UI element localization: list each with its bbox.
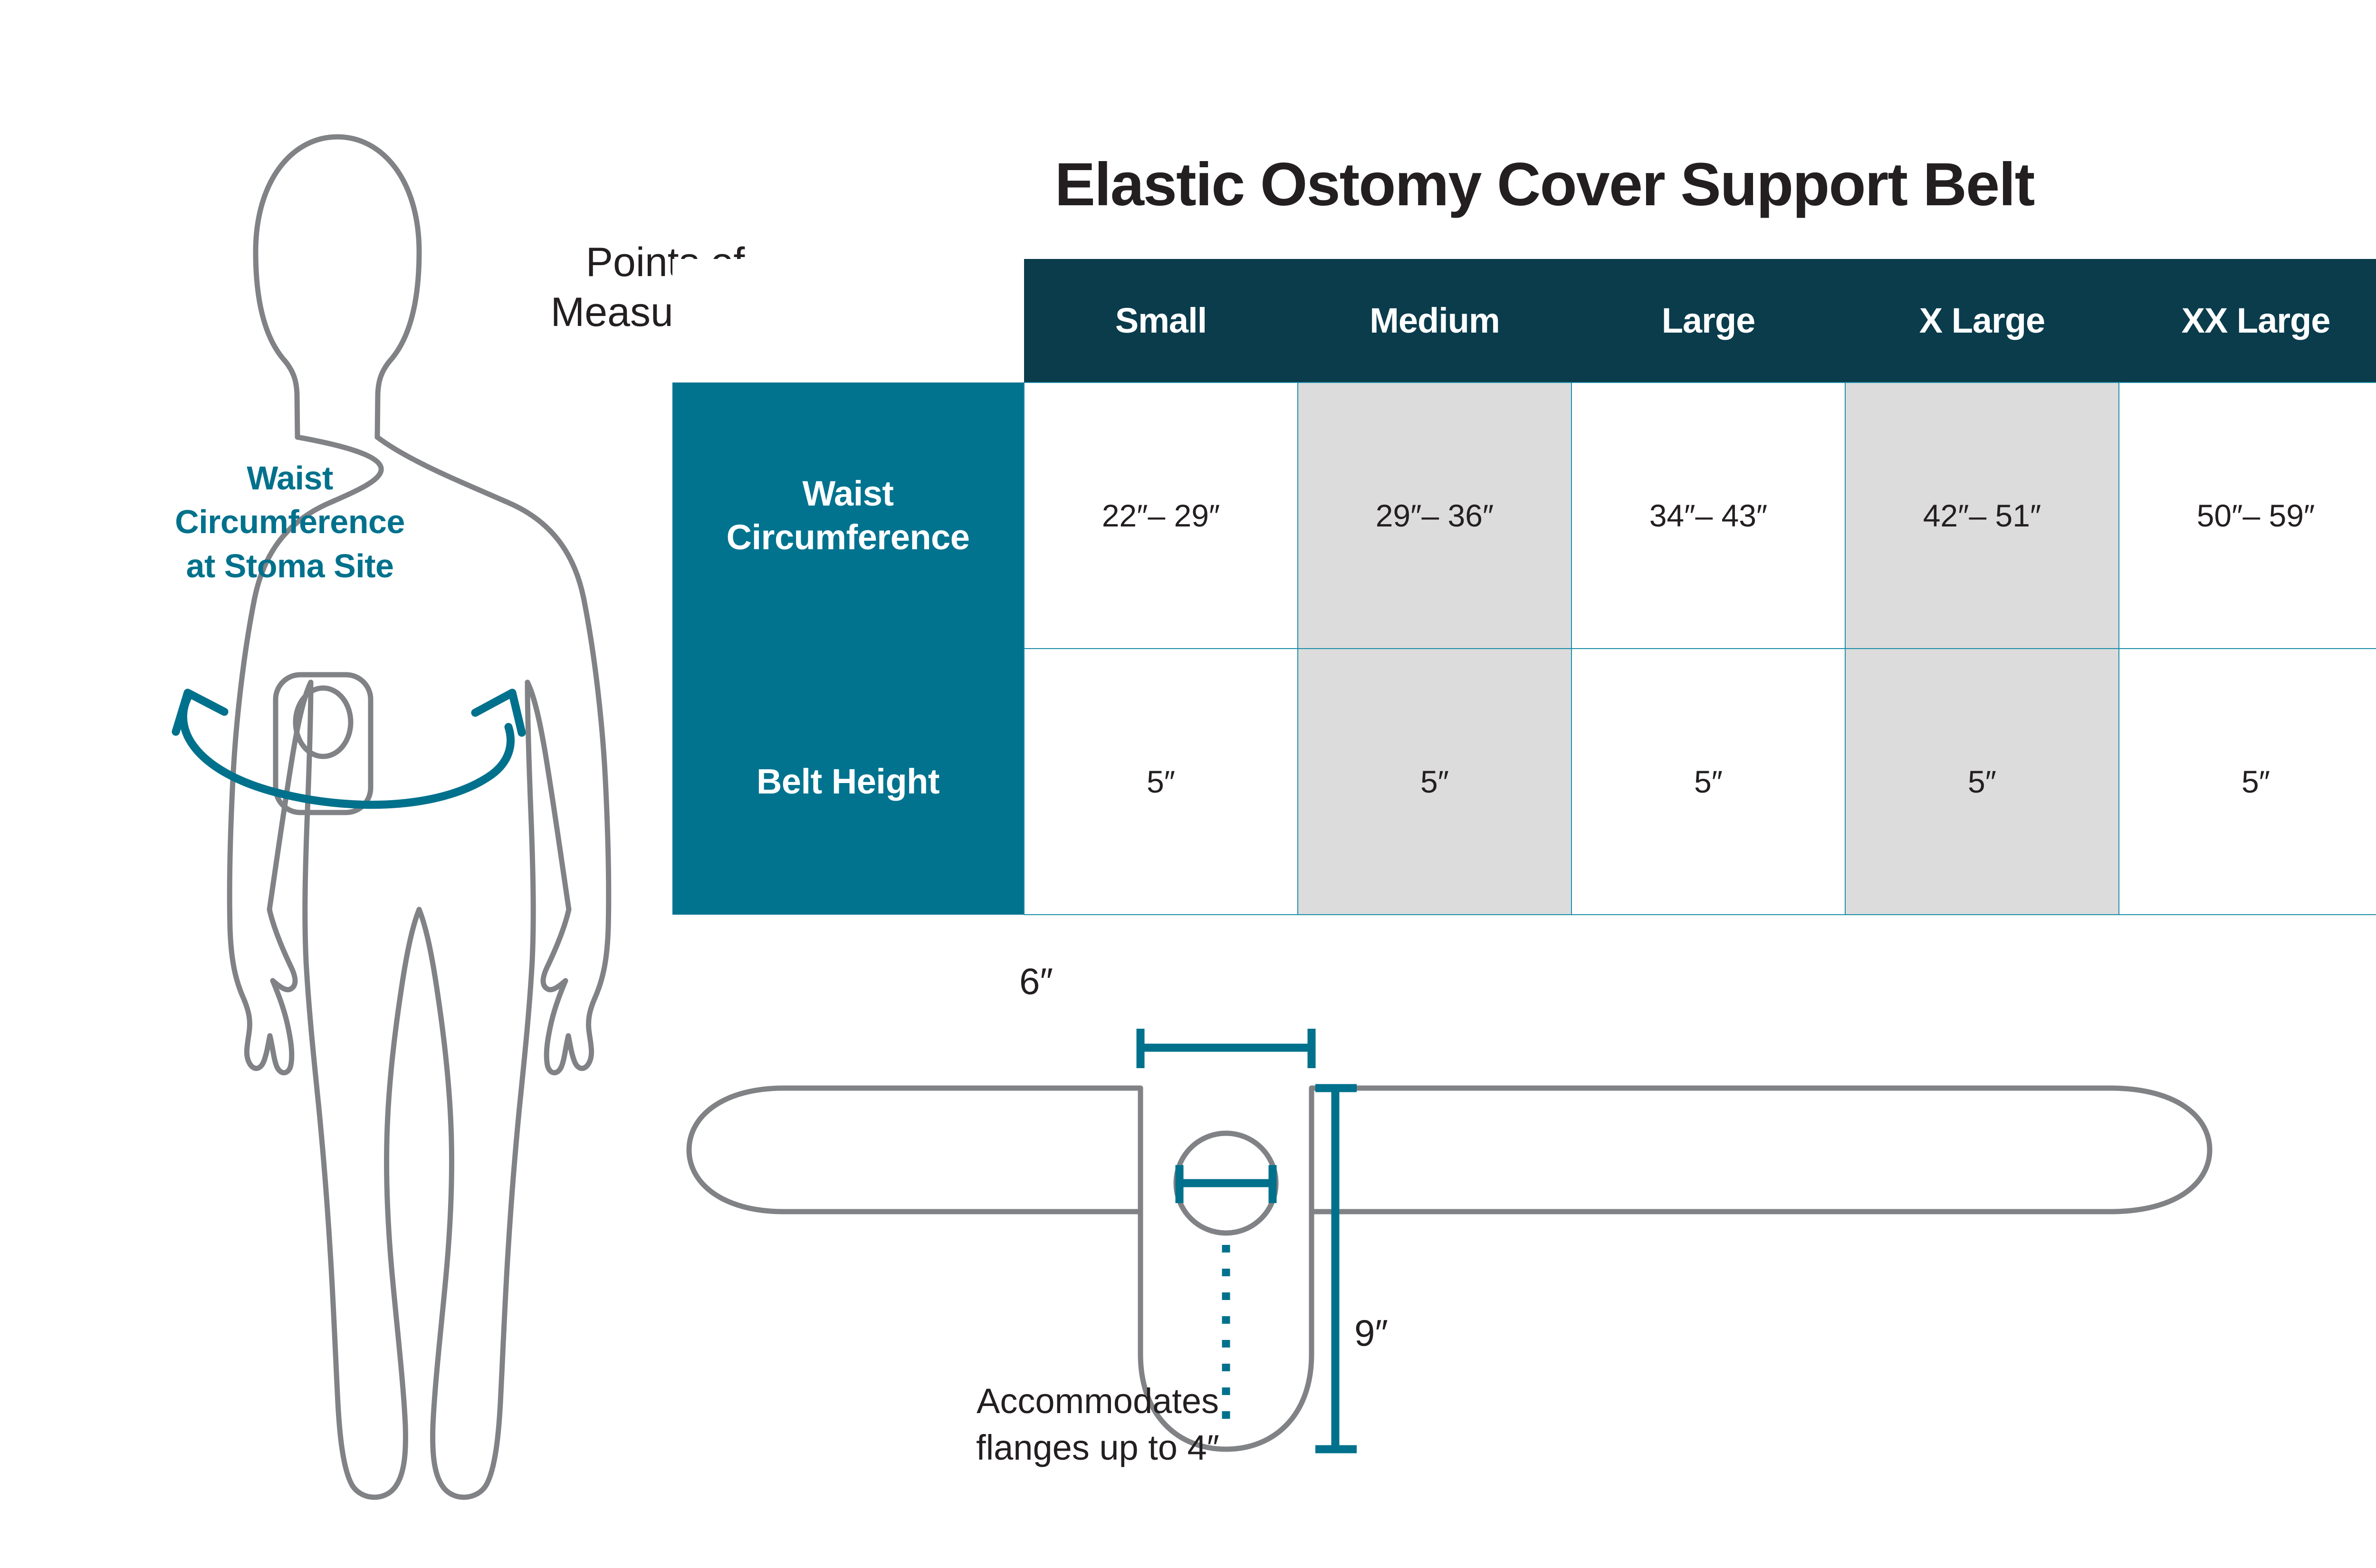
table-row: Waist Circumference 22″– 29″ 29″– 36″ 34… — [672, 382, 2376, 649]
cell-waist-xxlarge: 50″– 59″ — [2119, 382, 2376, 649]
table-header-row: Small Medium Large X Large XX Large — [672, 259, 2376, 382]
belt-height-dimension-label: 9″ — [1354, 1311, 1388, 1355]
row-label-belt-height: Belt Height — [672, 649, 1024, 915]
cell-height-small: 5″ — [1024, 649, 1298, 915]
column-header-xxlarge: XX Large — [2119, 259, 2376, 382]
cell-waist-xlarge: 42″– 51″ — [1845, 382, 2119, 649]
size-chart-table: Small Medium Large X Large XX Large Wais… — [672, 259, 2376, 915]
row-label-waist-line2: Circumference — [727, 517, 970, 557]
table-row: Belt Height 5″ 5″ 5″ 5″ 5″ — [672, 649, 2376, 915]
row-label-waist-circumference: Waist Circumference — [672, 382, 1024, 649]
waist-measure-label-line3: at Stoma Site — [186, 547, 394, 584]
waist-measure-label: Waist Circumference at Stoma Site — [157, 456, 423, 588]
flange-diameter-dimension-icon — [1179, 1165, 1273, 1203]
cell-waist-small: 22″– 29″ — [1024, 382, 1298, 649]
belt-flange-caption: Accommodates flanges up to 4″ — [860, 1378, 1335, 1472]
belt-caption-line2: flanges up to 4″ — [976, 1428, 1219, 1467]
column-header-large: Large — [1571, 259, 1845, 382]
column-header-medium: Medium — [1298, 259, 1571, 382]
cell-waist-medium: 29″– 36″ — [1298, 382, 1571, 649]
row-label-waist-line1: Waist — [802, 474, 893, 513]
width-dimension-line-icon — [1140, 1029, 1312, 1068]
table-corner-cell — [672, 259, 1024, 382]
waist-measure-label-line2: Circumference — [175, 503, 405, 540]
cell-height-large: 5″ — [1571, 649, 1845, 915]
column-header-small: Small — [1024, 259, 1298, 382]
body-figure-panel: Waist Circumference at Stoma Site — [0, 0, 665, 1568]
cell-height-xxlarge: 5″ — [2119, 649, 2376, 915]
belt-diagram-panel: 6″ 9″ Accommodates flanges up to 4″ — [665, 960, 2376, 1482]
cell-height-medium: 5″ — [1298, 649, 1571, 915]
belt-width-dimension-label: 6″ — [1019, 960, 1053, 1003]
column-header-xlarge: X Large — [1845, 259, 2119, 382]
page-title: Elastic Ostomy Cover Support Belt — [665, 150, 2376, 220]
belt-caption-line1: Accommodates — [977, 1381, 1219, 1421]
cell-waist-large: 34″– 43″ — [1571, 382, 1845, 649]
waist-measure-label-line1: Waist — [247, 459, 333, 497]
cell-height-xlarge: 5″ — [1845, 649, 2119, 915]
